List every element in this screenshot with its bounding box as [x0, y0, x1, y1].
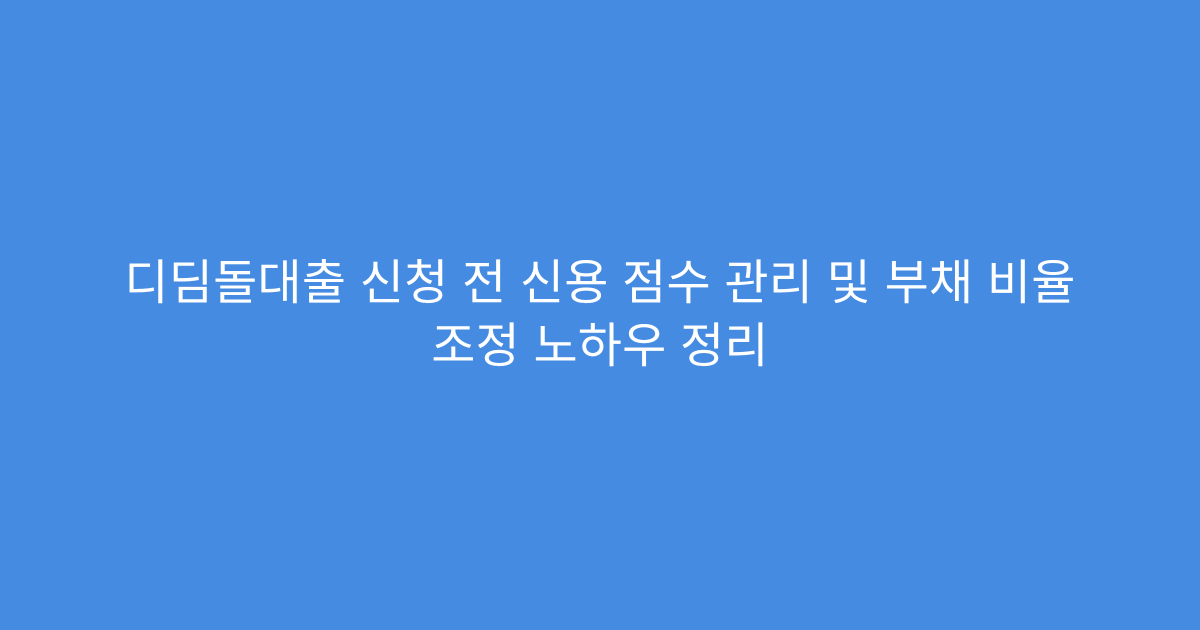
title-line-2: 조정 노하우 정리	[124, 315, 1075, 378]
title-line-1: 디딤돌대출 신청 전 신용 점수 관리 및 부채 비율	[124, 252, 1075, 315]
thumbnail-card: 디딤돌대출 신청 전 신용 점수 관리 및 부채 비율조정 노하우 정리	[0, 0, 1200, 630]
title-block: 디딤돌대출 신청 전 신용 점수 관리 및 부채 비율조정 노하우 정리	[0, 252, 1200, 378]
page-title: 디딤돌대출 신청 전 신용 점수 관리 및 부채 비율조정 노하우 정리	[124, 252, 1075, 378]
